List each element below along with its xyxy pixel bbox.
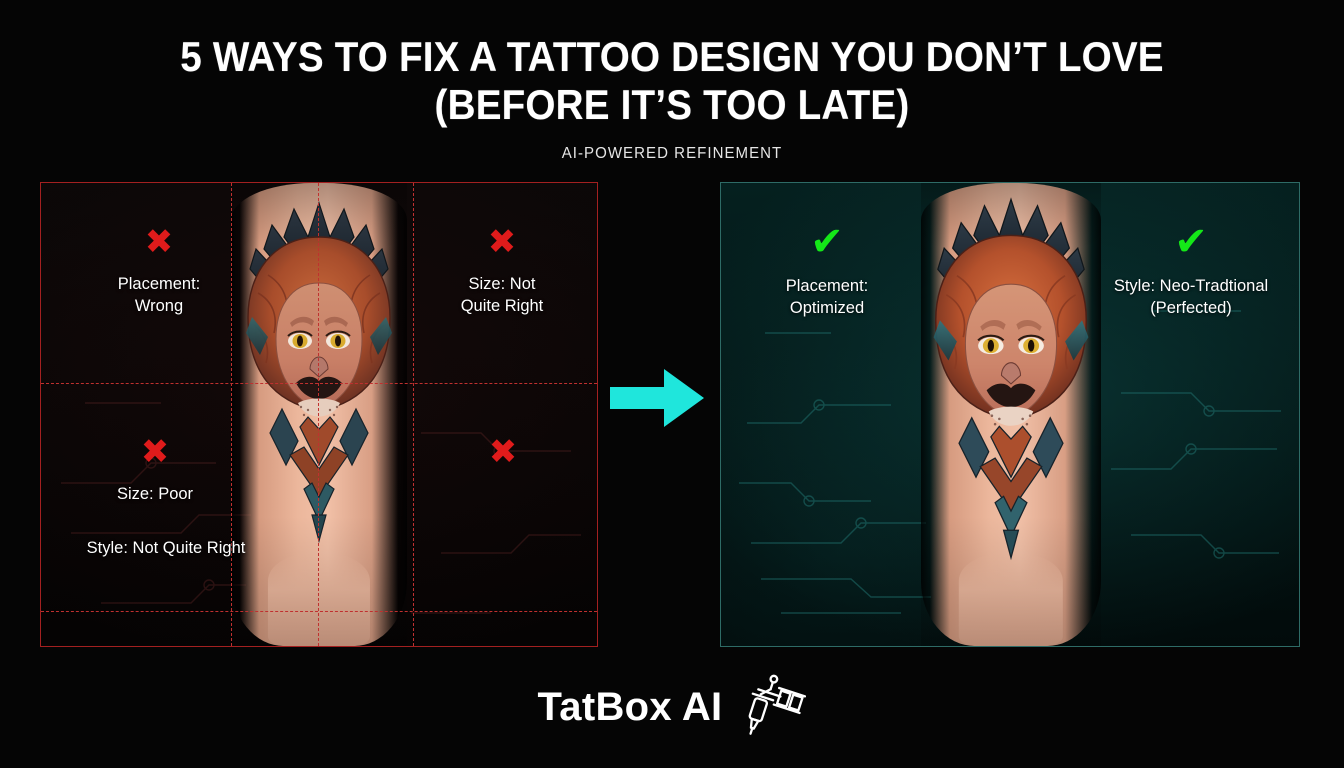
marker-style-label: Style: Not Quite Right [41, 523, 291, 559]
footer: TatBox AI [0, 672, 1344, 742]
marker-label: Size: Not Quite Right [427, 273, 577, 317]
after-panel: ✔ Placement: Optimized ✔ Style: Neo-Trad… [720, 182, 1300, 647]
red-x-icon: ✖ [427, 225, 577, 259]
red-x-icon: ✖ [83, 225, 235, 259]
page-title: 5 WAYS TO FIX A TATTOO DESIGN YOU DON’T … [54, 0, 1290, 126]
marker-label: Style: Not Quite Right [41, 537, 291, 559]
subtitle: AI-POWERED REFINEMENT [40, 126, 1303, 163]
before-panel: ✖ Placement: Wrong ✖ Size: Not Quite Rig… [40, 182, 598, 647]
grid-line-vertical [318, 183, 319, 646]
title-line-1: 5 WAYS TO FIX A TATTOO DESIGN YOU DON’T … [180, 33, 1164, 80]
header: 5 WAYS TO FIX A TATTOO DESIGN YOU DON’T … [0, 0, 1344, 163]
red-x-icon: ✖ [79, 435, 231, 469]
marker-label: Placement: Optimized [747, 275, 907, 319]
brand-name: TatBox AI [538, 685, 723, 730]
before-arm-photo [231, 183, 407, 646]
tattoo-machine-icon [744, 672, 806, 742]
green-check-icon: ✔ [747, 223, 907, 261]
title-line-2: (BEFORE IT’S TOO LATE) [54, 84, 1290, 126]
grid-line-horizontal [41, 611, 597, 612]
marker-placement-optimized: ✔ Placement: Optimized [747, 223, 907, 319]
marker-label: Size: Poor [79, 483, 231, 505]
marker-placement-wrong: ✖ Placement: Wrong [83, 225, 235, 317]
after-arm-photo [921, 183, 1101, 646]
marker-label: Placement: Wrong [83, 273, 235, 317]
grid-line-horizontal [41, 383, 597, 384]
arrow-right-icon [608, 367, 706, 429]
lion-tattoo-before [238, 197, 400, 561]
lion-tattoo-after [923, 193, 1099, 579]
marker-style-perfected: ✔ Style: Neo-Tradtional (Perfected) [1091, 223, 1291, 319]
green-check-icon: ✔ [1091, 223, 1291, 261]
red-x-icon: ✖ [433, 435, 573, 469]
marker-style-not-quite-right: ✖ [433, 435, 573, 483]
grid-line-vertical [413, 183, 414, 646]
marker-size-poor: ✖ Size: Poor [79, 435, 231, 505]
marker-size-not-quite-right: ✖ Size: Not Quite Right [427, 225, 577, 317]
infographic-canvas: 5 WAYS TO FIX A TATTOO DESIGN YOU DON’T … [0, 0, 1344, 768]
marker-label: Style: Neo-Tradtional (Perfected) [1091, 275, 1291, 319]
